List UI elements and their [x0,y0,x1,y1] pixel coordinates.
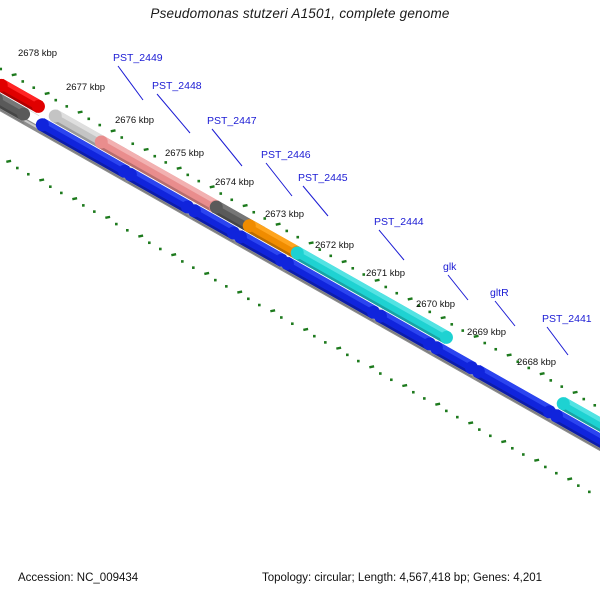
gene-label-pst_2445[interactable]: PST_2445 [298,172,348,184]
gene-label-gltr[interactable]: gltR [490,287,509,299]
gene-label-pst_2441[interactable]: PST_2441 [542,313,592,325]
coordinate-tick: 2675 kbp [165,148,204,159]
coordinate-tick: 2669 kbp [467,327,506,338]
coordinate-tick: 2671 kbp [366,268,405,279]
coordinate-tick: 2674 kbp [215,177,254,188]
gene-label-pst_2446[interactable]: PST_2446 [261,149,311,161]
coordinate-tick: 2678 kbp [18,48,57,59]
gene-label-pst_2447[interactable]: PST_2447 [207,115,257,127]
coordinate-tick: 2673 kbp [265,209,304,220]
coordinate-tick: 2672 kbp [315,240,354,251]
coordinate-tick: 2670 kbp [416,299,455,310]
topology-text: Topology: circular; Length: 4,567,418 bp… [262,572,542,584]
gene-label-pst_2449[interactable]: PST_2449 [113,52,163,64]
feature-track-lower [0,92,600,462]
coordinate-tick: 2676 kbp [115,115,154,126]
gene-label-pst_2444[interactable]: PST_2444 [374,216,424,228]
coordinate-tick: 2668 kbp [517,357,556,368]
accession-text: Accession: NC_009434 [18,572,138,584]
status-bar: Accession: NC_009434 Topology: circular;… [0,564,600,600]
gene-label-pst_2448[interactable]: PST_2448 [152,80,202,92]
genome-viewer: Pseudomonas stutzeri A1501, complete gen… [0,0,600,600]
coordinate-tick: 2677 kbp [66,82,105,93]
gene-label-glk[interactable]: glk [443,261,456,273]
